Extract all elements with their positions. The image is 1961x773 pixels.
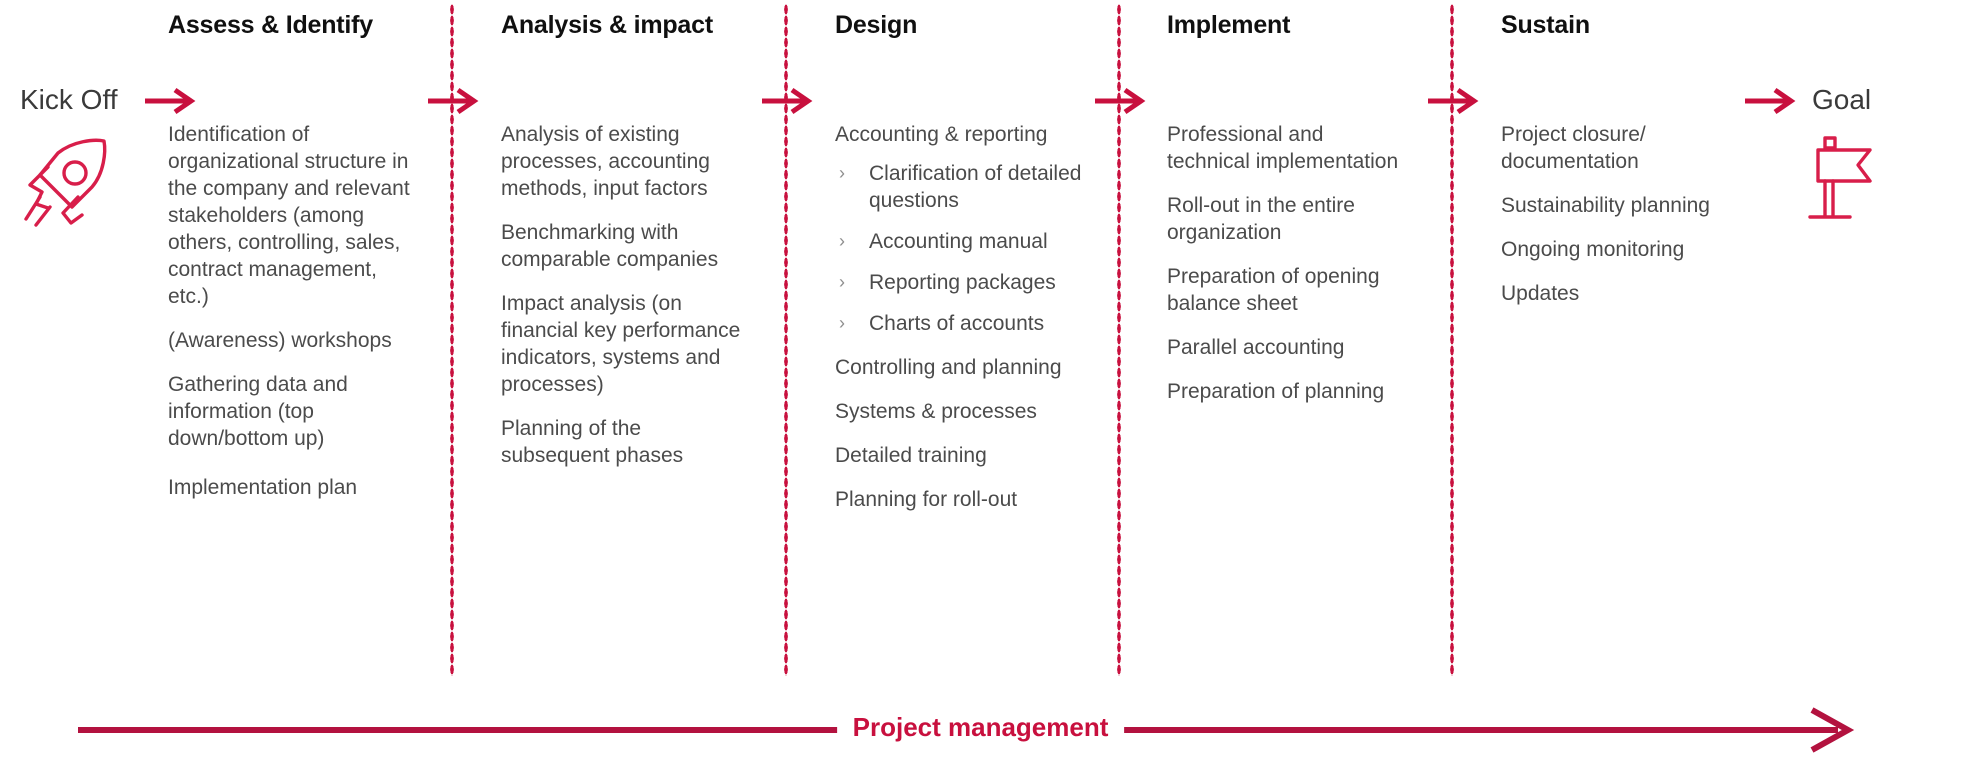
list-item: Preparation of opening balance sheet xyxy=(1167,263,1412,317)
chevron-right-icon: › xyxy=(839,310,845,337)
list-item: Benchmarking with comparable companies xyxy=(501,219,746,273)
column-title-implement: Implement xyxy=(1167,11,1290,40)
rocket-icon xyxy=(18,135,116,227)
sub-list-item: ›Charts of accounts xyxy=(835,310,1095,337)
flag-icon xyxy=(1800,132,1880,224)
column-title-design: Design xyxy=(835,11,917,40)
kick-off-arrow-icon xyxy=(145,86,197,116)
list-item: Implementation plan xyxy=(168,474,418,501)
process-roadmap-diagram: Kick Off Assess & Identify Identificatio… xyxy=(0,0,1961,773)
chevron-right-icon: › xyxy=(839,228,845,255)
sub-list-item-label: Charts of accounts xyxy=(869,312,1044,335)
sub-list-item: ›Reporting packages xyxy=(835,269,1095,296)
list-item: Sustainability planning xyxy=(1501,192,1751,219)
list-item: Project closure/ documentation xyxy=(1501,121,1751,175)
stage-arrow-4 xyxy=(1428,86,1480,116)
list-item: Planning of the subsequent phases xyxy=(501,415,746,469)
kick-off-label: Kick Off xyxy=(20,84,118,116)
column-body-implement: Professional and technical implementatio… xyxy=(1167,121,1412,405)
list-item: Planning for roll-out xyxy=(835,486,1095,513)
list-item: Detailed training xyxy=(835,442,1095,469)
sub-list-item-label: Reporting packages xyxy=(869,271,1056,294)
goal-arrow-icon xyxy=(1745,86,1797,116)
design-sublist: ›Clarification of detailed questions ›Ac… xyxy=(835,160,1095,337)
list-item: Preparation of planning xyxy=(1167,378,1412,405)
list-item: Analysis of existing processes, accounti… xyxy=(501,121,746,202)
chevron-right-icon: › xyxy=(839,160,845,187)
column-body-assess-identify: Identification of organizational structu… xyxy=(168,121,418,501)
column-title-assess-identify: Assess & Identify xyxy=(168,11,373,40)
list-item: Roll-out in the entire organization xyxy=(1167,192,1412,246)
sub-list-item: ›Clarification of detailed questions xyxy=(835,160,1095,214)
list-item: Systems & processes xyxy=(835,398,1095,425)
list-item: Updates xyxy=(1501,280,1751,307)
sub-list-item: ›Accounting manual xyxy=(835,228,1095,255)
stage-arrow-2 xyxy=(762,86,814,116)
chevron-right-icon: › xyxy=(839,269,845,296)
project-management-label: Project management xyxy=(837,712,1125,743)
column-body-sustain: Project closure/ documentation Sustainab… xyxy=(1501,121,1751,307)
list-item: Professional and technical implementatio… xyxy=(1167,121,1412,175)
sub-list-item-label: Clarification of detailed questions xyxy=(869,162,1081,212)
stage-arrow-1 xyxy=(428,86,480,116)
list-item: Controlling and planning xyxy=(835,354,1095,381)
list-item: Gathering data and information (top down… xyxy=(168,371,418,452)
list-item: Ongoing monitoring xyxy=(1501,236,1751,263)
goal-label: Goal xyxy=(1812,84,1871,116)
list-item: Parallel accounting xyxy=(1167,334,1412,361)
list-item: Identification of organizational structu… xyxy=(168,121,418,310)
list-item: Impact analysis (on financial key perfor… xyxy=(501,290,746,398)
column-body-analysis-impact: Analysis of existing processes, accounti… xyxy=(501,121,746,469)
column-title-analysis-impact: Analysis & impact xyxy=(501,11,713,40)
list-item: Accounting & reporting xyxy=(835,121,1095,148)
column-body-design: Accounting & reporting ›Clarification of… xyxy=(835,121,1095,513)
sub-list-item-label: Accounting manual xyxy=(869,230,1048,253)
column-title-sustain: Sustain xyxy=(1501,11,1590,40)
list-item: (Awareness) workshops xyxy=(168,327,418,354)
stage-arrow-3 xyxy=(1095,86,1147,116)
